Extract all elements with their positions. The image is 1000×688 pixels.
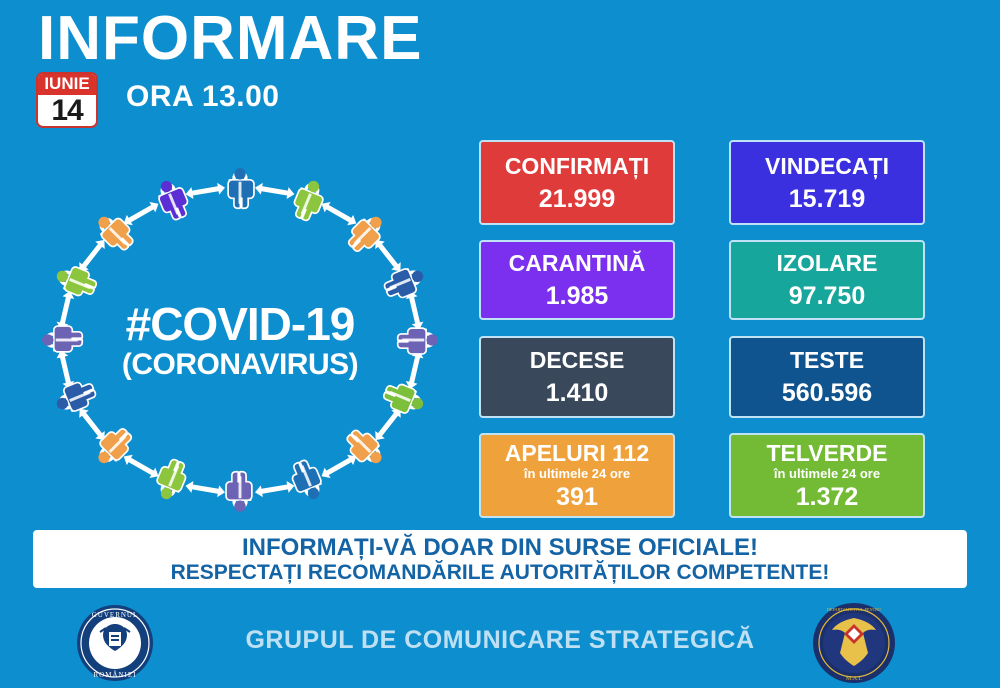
person-figure: [229, 168, 253, 207]
person-figure: [382, 381, 428, 418]
stat-label: DECESE: [530, 347, 625, 373]
person-figure: [52, 379, 98, 416]
stat-value: 1.372: [796, 483, 859, 511]
person-figure: [152, 457, 189, 503]
stat-label: APELURI 112: [505, 440, 649, 466]
person-figure: [290, 177, 327, 223]
stat-label: TELVERDE: [767, 440, 888, 466]
distancing-arrow: [185, 182, 226, 201]
distancing-arrow: [404, 349, 425, 391]
infographic-canvas: INFORMARE IUNIE 14 ORA 13.00 #COVID-19 (…: [0, 0, 1000, 688]
distancing-arrow: [55, 289, 76, 331]
stat-card-vindeca-i: VINDECAȚI15.719: [729, 140, 925, 225]
calendar-icon: IUNIE 14: [36, 72, 98, 128]
svg-text:ROMÂNIEI: ROMÂNIEI: [94, 671, 137, 679]
banner-line-1: INFORMAȚI-VĂ DOAR DIN SURSE OFICIALE!: [242, 534, 758, 561]
stat-value: 15.719: [789, 185, 865, 213]
stat-card-izolare: IZOLARE97.750: [729, 240, 925, 320]
person-figure: [289, 458, 326, 504]
distancing-arrow: [185, 480, 226, 499]
stat-value: 1.410: [546, 379, 609, 407]
calendar-month: IUNIE: [38, 74, 96, 95]
report-hour: ORA 13.00: [126, 80, 279, 114]
stat-sublabel: în ultimele 24 ore: [524, 467, 630, 481]
person-figure: [42, 327, 81, 351]
stat-value: 560.596: [782, 379, 872, 407]
stat-value: 97.750: [789, 282, 865, 310]
stat-card-teste: TESTE560.596: [729, 336, 925, 418]
stat-card-telverde: TELVERDEîn ultimele 24 ore1.372: [729, 433, 925, 518]
stat-sublabel: în ultimele 24 ore: [774, 467, 880, 481]
svg-text:M.A.I.: M.A.I.: [846, 676, 863, 682]
person-figure: [154, 176, 191, 222]
ring-svg: [30, 160, 450, 520]
person-figure: [382, 264, 428, 301]
stat-card-apeluri-112: APELURI 112în ultimele 24 ore391: [479, 433, 675, 518]
svg-text:GUVERNUL: GUVERNUL: [92, 611, 139, 619]
stat-label: CARANTINĂ: [509, 250, 646, 276]
stat-card-decese: DECESE1.410: [479, 336, 675, 418]
dsu-mai-logo: DEPARTAMENTUL PENTRU M.A.I.: [812, 602, 896, 684]
stat-label: TESTE: [790, 347, 864, 373]
distancing-arrow: [121, 451, 162, 481]
page-title: INFORMARE: [38, 6, 422, 71]
stat-label: IZOLARE: [777, 250, 878, 276]
covid-distancing-ring: #COVID-19 (CORONAVIRUS): [30, 160, 450, 520]
banner-line-2: RESPECTAȚI RECOMANDĂRILE AUTORITĂȚILOR C…: [171, 561, 830, 585]
stat-label: CONFIRMAȚI: [505, 153, 649, 179]
distancing-arrow: [121, 198, 162, 228]
distancing-arrow: [254, 480, 295, 499]
official-sources-banner: INFORMAȚI-VĂ DOAR DIN SURSE OFICIALE! RE…: [33, 530, 967, 588]
distancing-arrow: [254, 182, 295, 201]
stat-value: 1.985: [546, 282, 609, 310]
person-figure: [399, 329, 438, 353]
person-figure: [227, 473, 251, 512]
distancing-arrow: [319, 451, 360, 481]
stat-card-carantin: CARANTINĂ1.985: [479, 240, 675, 320]
svg-text:DEPARTAMENTUL PENTRU: DEPARTAMENTUL PENTRU: [827, 607, 882, 612]
stat-card-confirma-i: CONFIRMAȚI21.999: [479, 140, 675, 225]
person-figure: [53, 262, 99, 299]
stat-value: 21.999: [539, 185, 615, 213]
stat-value: 391: [556, 483, 598, 511]
calendar-day: 14: [38, 95, 96, 126]
distancing-arrow: [319, 198, 360, 228]
stat-label: VINDECAȚI: [765, 153, 889, 179]
